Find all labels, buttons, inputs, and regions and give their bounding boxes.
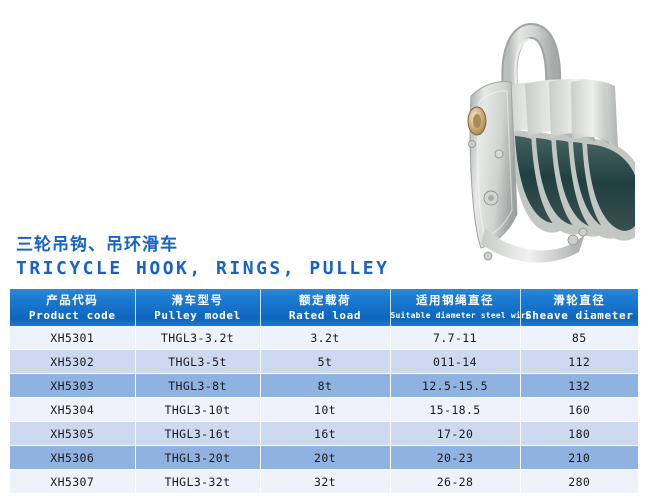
column-header-sheave-diameter: 滑轮直径 Sheave diameter [520,289,638,326]
column-header-pulley-model: 滑车型号 Pulley model [135,289,260,326]
column-header-cn: 产品代码 [10,293,135,308]
table-row: XH5305THGL3-16t16t17-20180 [10,422,638,446]
column-header-product-code: 产品代码 Product code [10,289,135,326]
cell-pulley_model: THGL3-10t [135,398,260,422]
table-row: XH5302THGL3-5t5t011-14112 [10,350,638,374]
cell-pulley_model: THGL3-8t [135,374,260,398]
page-title-english: TRICYCLE HOOK, RINGS, PULLEY [16,257,516,281]
axle-boss [468,107,486,135]
cell-rated_load: 5t [260,350,390,374]
cell-product_code: XH5304 [10,398,135,422]
cell-sheave_diameter: 132 [520,374,638,398]
sheave-stack [510,130,635,241]
cell-pulley_model: THGL3-16t [135,422,260,446]
cell-pulley_model: THGL3-5t [135,350,260,374]
specification-table: 产品代码 Product code 滑车型号 Pulley model 额定载荷… [10,289,638,494]
cell-wire_diameter: 26-28 [390,470,520,494]
table-row: XH5304THGL3-10t10t15-18.5160 [10,398,638,422]
cell-sheave_diameter: 85 [520,326,638,350]
table-row: XH5301THGL3-3.2t3.2t7.7-1185 [10,326,638,350]
column-header-en: Pulley model [136,308,260,323]
table-row: XH5306THGL3-20t20t20-23210 [10,446,638,470]
product-title-block: 三轮吊钩、吊环滑车 TRICYCLE HOOK, RINGS, PULLEY [16,234,516,281]
cell-wire_diameter: 20-23 [390,446,520,470]
cell-sheave_diameter: 160 [520,398,638,422]
cell-product_code: XH5302 [10,350,135,374]
cell-rated_load: 32t [260,470,390,494]
cell-rated_load: 8t [260,374,390,398]
column-header-en: Sheave diameter [521,308,639,323]
cell-product_code: XH5301 [10,326,135,350]
pulley-side-plate-front [470,82,517,248]
cell-rated_load: 10t [260,398,390,422]
table-header-row: 产品代码 Product code 滑车型号 Pulley model 额定载荷… [10,289,638,326]
column-header-en: Product code [10,308,135,323]
cell-product_code: XH5305 [10,422,135,446]
table-row: XH5303THGL3-8t8t12.5-15.5132 [10,374,638,398]
cell-pulley_model: THGL3-3.2t [135,326,260,350]
column-header-cn: 额定载荷 [261,293,390,308]
column-header-cn: 适用钢绳直径 [391,293,520,308]
cell-pulley_model: THGL3-20t [135,446,260,470]
cell-sheave_diameter: 112 [520,350,638,374]
cell-wire_diameter: 7.7-11 [390,326,520,350]
cell-sheave_diameter: 280 [520,470,638,494]
cell-wire_diameter: 15-18.5 [390,398,520,422]
table-header: 产品代码 Product code 滑车型号 Pulley model 额定载荷… [10,289,638,326]
column-header-en: Suitable diameter steel wire [391,308,520,323]
cell-rated_load: 20t [260,446,390,470]
column-header-cn: 滑轮直径 [521,293,639,308]
column-header-wire-diameter: 适用钢绳直径 Suitable diameter steel wire [390,289,520,326]
cell-rated_load: 3.2t [260,326,390,350]
cell-rated_load: 16t [260,422,390,446]
cell-sheave_diameter: 180 [520,422,638,446]
cell-product_code: XH5303 [10,374,135,398]
cell-pulley_model: THGL3-32t [135,470,260,494]
column-header-rated-load: 额定载荷 Rated load [260,289,390,326]
cell-wire_diameter: 17-20 [390,422,520,446]
column-header-cn: 滑车型号 [136,293,260,308]
page-title-chinese: 三轮吊钩、吊环滑车 [16,234,516,256]
cell-wire_diameter: 011-14 [390,350,520,374]
column-header-en: Rated load [261,308,390,323]
cell-product_code: XH5306 [10,446,135,470]
cell-sheave_diameter: 210 [520,446,638,470]
table-row: XH5307THGL3-32t32t26-28280 [10,470,638,494]
table-body: XH5301THGL3-3.2t3.2t7.7-1185XH5302THGL3-… [10,326,638,494]
cell-wire_diameter: 12.5-15.5 [390,374,520,398]
cell-product_code: XH5307 [10,470,135,494]
